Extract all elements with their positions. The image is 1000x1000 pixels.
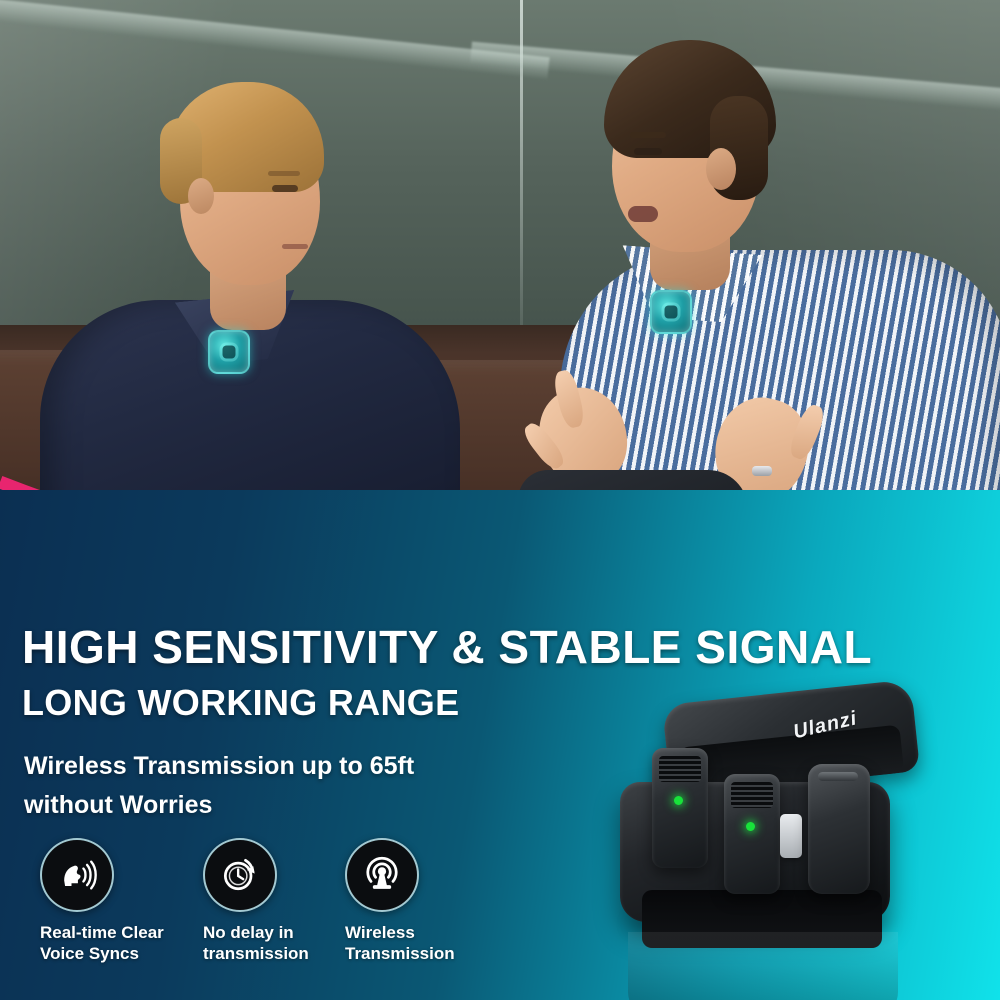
eyebrow (630, 132, 666, 138)
product-image: Ulanzi (612, 686, 984, 936)
tagline-line-1: Wireless Transmission up to 65ft (24, 752, 414, 781)
feature-label: No delay in transmission (203, 923, 309, 964)
mic-grille (731, 782, 773, 808)
mic-grille (659, 756, 701, 782)
feature-item-voice-sync: Real-time Clear Voice Syncs (40, 838, 164, 964)
feature-item-no-delay: No delay in transmission (203, 838, 309, 964)
page-title: HIGH SENSITIVITY & STABLE SIGNAL (22, 620, 872, 674)
voice-sync-icon (40, 838, 114, 912)
feature-label: Real-time Clear Voice Syncs (40, 923, 164, 964)
page-subtitle: LONG WORKING RANGE (22, 682, 459, 724)
teal-clip-mic-right (650, 290, 692, 334)
eye (634, 148, 662, 155)
product-marketing-image: HIGH SENSITIVITY & STABLE SIGNAL LONG WO… (0, 0, 1000, 1000)
case-front-panel (628, 932, 898, 1000)
status-led (746, 822, 755, 831)
clock-arrow-icon (203, 838, 277, 912)
ear (188, 178, 214, 214)
eye (272, 185, 298, 192)
usb-c-connector (780, 814, 802, 858)
eyebrow (268, 171, 300, 176)
mouth (282, 244, 308, 249)
receiver-button (818, 772, 858, 781)
status-led (674, 796, 683, 805)
mouth-open (628, 206, 658, 222)
feature-label: Wireless Transmission (345, 923, 455, 964)
feature-item-wireless: Wireless Transmission (345, 838, 455, 964)
mic-transmitter-1 (652, 748, 708, 868)
teal-clip-mic-left (208, 330, 250, 374)
broadcast-tower-icon (345, 838, 419, 912)
feature-list: Real-time Clear Voice Syncs No delay in … (40, 838, 560, 988)
receiver-unit (808, 764, 870, 894)
tagline-line-2: without Worries (24, 791, 212, 820)
ear (706, 148, 736, 190)
mic-transmitter-2 (724, 774, 780, 894)
